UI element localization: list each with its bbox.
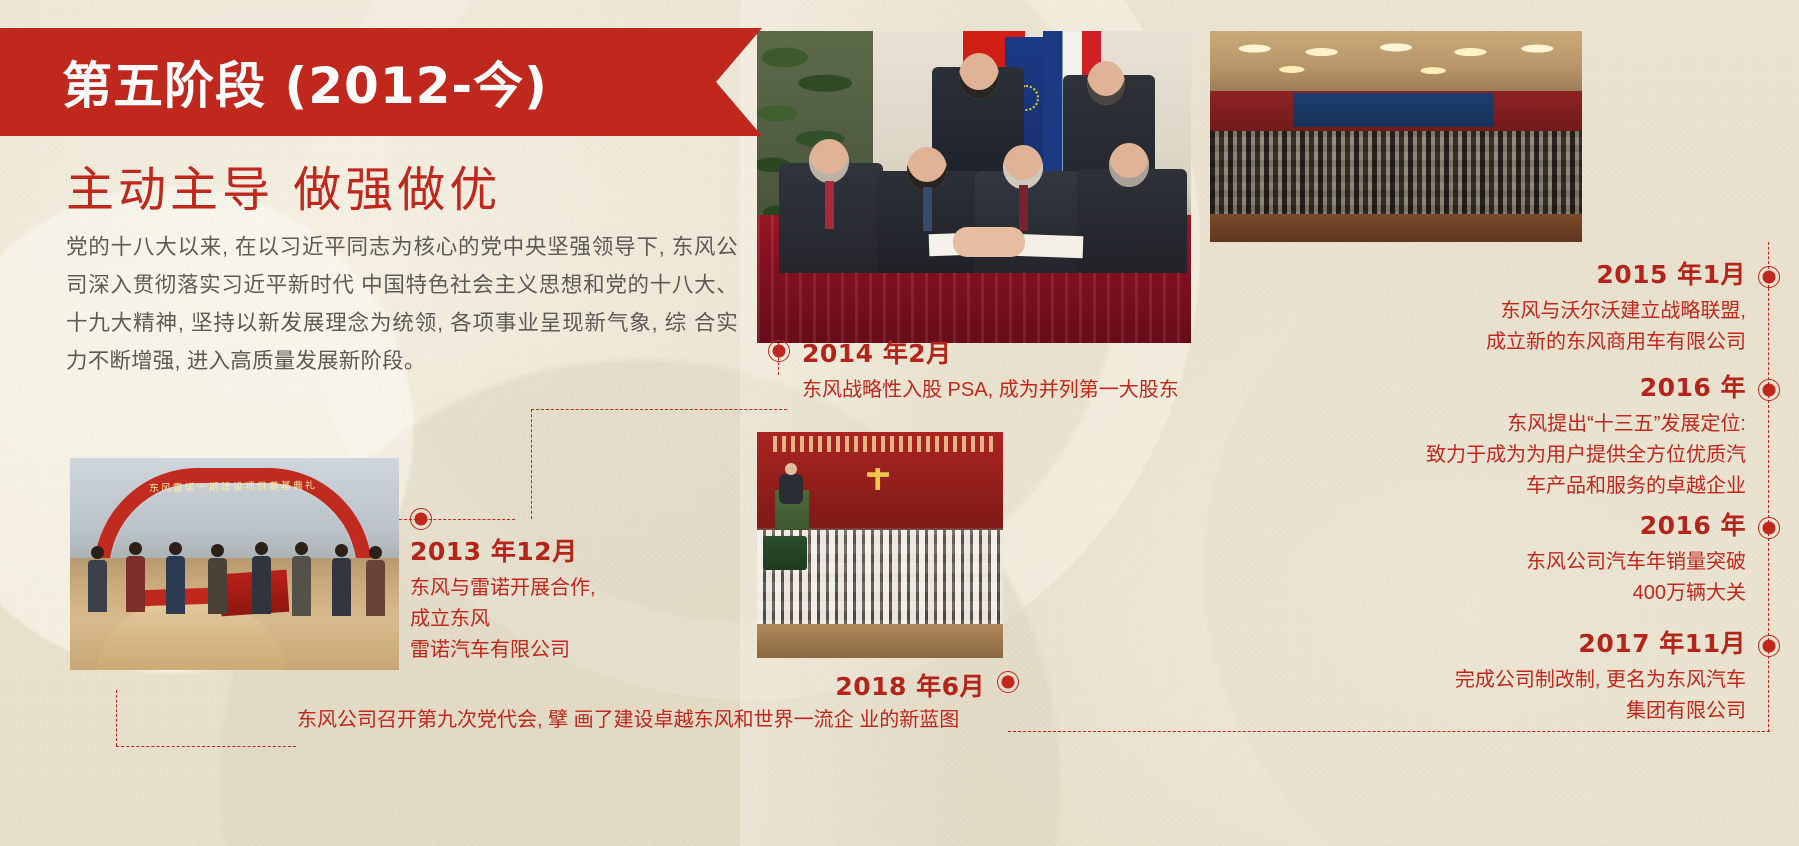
event-year: 2018 年6月 bbox=[297, 667, 985, 703]
photo-conference-hall bbox=[1210, 31, 1582, 242]
event-description: 东风公司召开第九次党代会, 擘 画了建设卓越东风和世界一流企 业的新蓝图 bbox=[297, 705, 985, 736]
timeline-dot-2016-plan[interactable] bbox=[1758, 379, 1780, 401]
event-description: 东风与雷诺开展合作, 成立东风 雷诺汽车有限公司 bbox=[410, 573, 810, 666]
event-description: 东风与沃尔沃建立战略联盟, 成立新的东风商用车有限公司 bbox=[1190, 296, 1746, 358]
connector-2018-vert bbox=[116, 690, 117, 746]
timeline-dot-2016-sales[interactable] bbox=[1758, 517, 1780, 539]
event-year: 2014 年2月 bbox=[802, 334, 1190, 370]
timeline-dot-2015[interactable] bbox=[1758, 266, 1780, 288]
event-2014-psa[interactable]: 2014 年2月 东风战略性入股 PSA, 成为并列第一大股东 bbox=[760, 334, 1190, 406]
connector-2013-top bbox=[531, 409, 787, 410]
connector-right-5 bbox=[1768, 646, 1769, 732]
stage-banner: 第五阶段 (2012-今) bbox=[0, 28, 716, 136]
event-description: 东风提出“十三五”发展定位: 致力于成为为用户提供全方位优质汽 车产品和服务的卓… bbox=[1190, 409, 1746, 502]
event-year: 2016 年 bbox=[1190, 368, 1746, 404]
event-description: 完成公司制改制, 更名为东风汽车 集团有限公司 bbox=[1190, 665, 1746, 727]
connector-2013-vert bbox=[531, 409, 532, 519]
connector-right-3 bbox=[1768, 390, 1769, 528]
event-description: 东风战略性入股 PSA, 成为并列第一大股东 bbox=[802, 375, 1190, 406]
event-year: 2015 年1月 bbox=[1190, 255, 1746, 291]
intro-paragraph: 党的十八大以来, 在以习近平同志为核心的党中央坚强领导下, 东风公司深入贯彻落实… bbox=[66, 228, 738, 380]
photo-china-france-signing bbox=[757, 31, 1191, 343]
infographic-page: 第五阶段 (2012-今) 主动主导 做强做优 党的十八大以来, 在以习近平同志… bbox=[0, 0, 1799, 846]
arch-banner-text: 东风雷诺一期建设项目奠基典礼 bbox=[104, 476, 362, 506]
event-year: 2013 年12月 bbox=[410, 532, 810, 568]
event-year: 2016 年 bbox=[1190, 506, 1746, 542]
connector-right-4 bbox=[1768, 528, 1769, 646]
event-2018-congress[interactable]: 2018 年6月 东风公司召开第九次党代会, 擘 画了建设卓越东风和世界一流企 … bbox=[297, 667, 985, 736]
timeline-dot-2013[interactable] bbox=[410, 508, 432, 530]
event-2015-volvo[interactable]: 2015 年1月 东风与沃尔沃建立战略联盟, 成立新的东风商用车有限公司 bbox=[1190, 255, 1746, 358]
timeline-dot-2014[interactable] bbox=[768, 340, 790, 362]
event-description: 东风公司汽车年销量突破 400万辆大关 bbox=[1190, 547, 1746, 609]
timeline-dot-2017[interactable] bbox=[1758, 635, 1780, 657]
connector-right-2 bbox=[1768, 288, 1769, 390]
connector-bottom-right bbox=[1008, 731, 1770, 732]
event-2016-sales[interactable]: 2016 年 东风公司汽车年销量突破 400万辆大关 bbox=[1190, 506, 1746, 609]
event-year: 2017 年11月 bbox=[1190, 624, 1746, 660]
event-2013-renault[interactable]: 2013 年12月 东风与雷诺开展合作, 成立东风 雷诺汽车有限公司 bbox=[410, 532, 810, 666]
subtitle: 主动主导 做强做优 bbox=[66, 150, 501, 220]
page-title: 第五阶段 (2012-今) bbox=[62, 46, 548, 118]
photo-groundbreaking: 东风雷诺一期建设项目奠基典礼 bbox=[70, 458, 399, 670]
event-2017-restructure[interactable]: 2017 年11月 完成公司制改制, 更名为东风汽车 集团有限公司 bbox=[1190, 624, 1746, 727]
event-2016-135plan[interactable]: 2016 年 东风提出“十三五”发展定位: 致力于成为为用户提供全方位优质汽 车… bbox=[1190, 368, 1746, 502]
timeline-dot-2018[interactable] bbox=[997, 671, 1019, 693]
connector-2018-horiz bbox=[116, 746, 296, 747]
